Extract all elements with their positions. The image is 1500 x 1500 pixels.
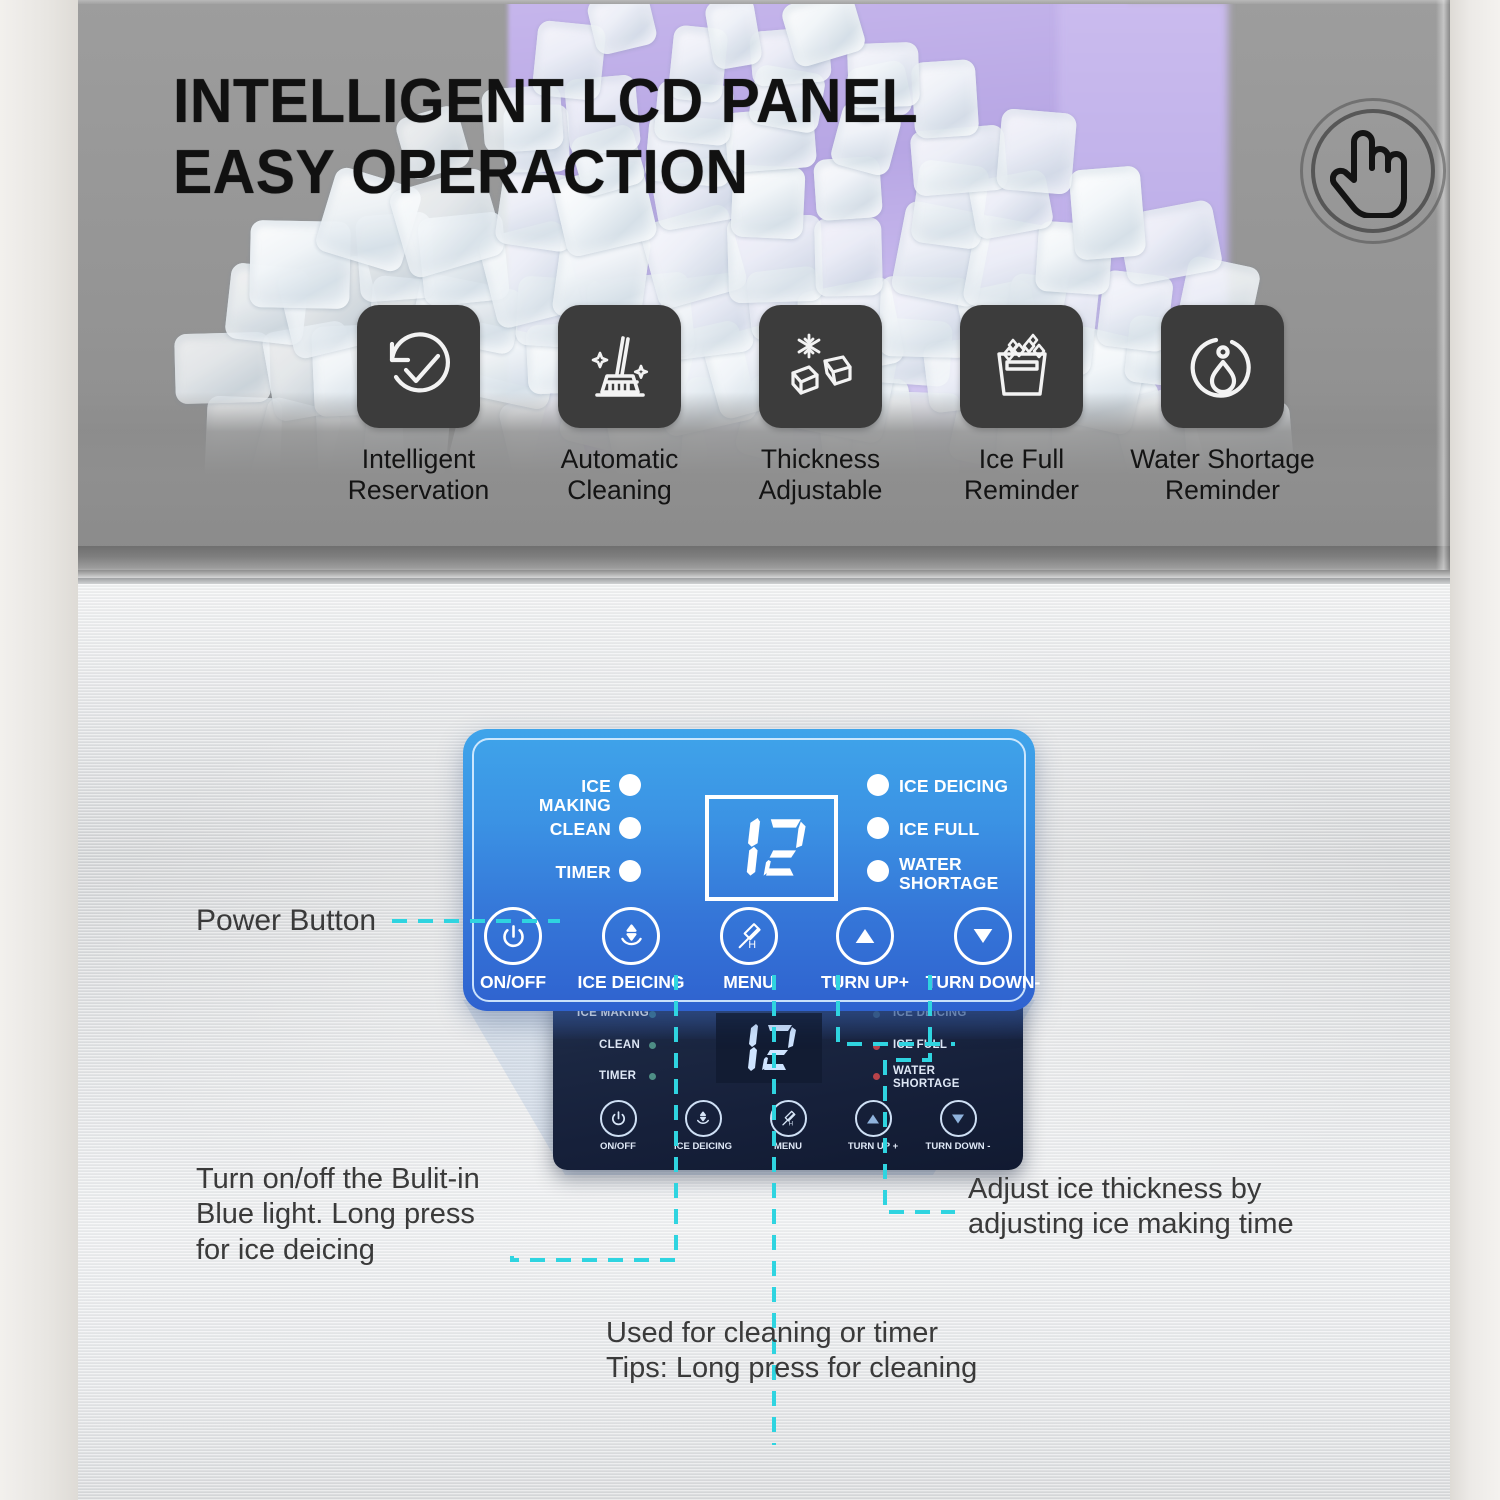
feature-label: Intelligent Reservation <box>348 444 489 506</box>
panel-button-row: ON/OFF ICE DEICING H <box>463 907 1035 993</box>
dark-button-label: ON/OFF <box>600 1141 636 1152</box>
dark-lamp-water-shortage <box>873 1073 880 1080</box>
feature-thickness-adjustable: Thickness Adjustable <box>720 305 921 506</box>
svg-text:H: H <box>748 939 756 951</box>
dark-button-menu[interactable]: H MENU <box>751 1100 825 1152</box>
feature-water-shortage-reminder: Water Shortage Reminder <box>1122 305 1323 506</box>
hand-glyph <box>1330 124 1418 218</box>
feature-label: Automatic Cleaning <box>561 444 679 506</box>
dark-lamp-ice-deicing <box>873 1011 880 1018</box>
ice-cube <box>704 0 763 71</box>
deicing-icon <box>685 1100 722 1137</box>
hero-top-bezel <box>78 0 1450 4</box>
lamp-water-shortage <box>867 860 889 882</box>
feature-ice-full-reminder: Ice Full Reminder <box>921 305 1122 506</box>
deicing-icon <box>602 907 660 965</box>
button-label: MENU <box>723 972 775 993</box>
power-icon <box>484 907 542 965</box>
button-menu[interactable]: H MENU <box>699 907 799 993</box>
lamp-label-ice-making: ICE MAKING <box>511 777 611 816</box>
button-ice-deicing[interactable]: ICE DEICING <box>579 907 683 993</box>
ice-cube <box>585 0 658 56</box>
button-turn-down[interactable]: TURN DOWN- <box>931 907 1035 993</box>
dark-lamp-timer <box>649 1073 656 1080</box>
snowflake-ice-cubes-icon <box>759 305 882 428</box>
lamp-ice-making <box>619 774 641 796</box>
ice-cube <box>911 59 980 139</box>
dark-lcd-digits <box>734 1022 804 1074</box>
dark-button-turn-down[interactable]: TURN DOWN - <box>921 1100 995 1152</box>
annotation-menu-cleaning: Used for cleaning or timer Tips: Long pr… <box>606 1316 977 1387</box>
water-drop-circle-icon <box>1161 305 1284 428</box>
lcd-display <box>705 795 838 901</box>
button-turn-up[interactable]: TURN UP+ <box>815 907 915 993</box>
arrow-down-icon <box>940 1100 977 1137</box>
button-label: ON/OFF <box>480 972 546 993</box>
lamp-ice-full <box>867 817 889 839</box>
dark-lcd-display <box>716 1013 822 1083</box>
hero-bottom-bezel <box>78 546 1450 572</box>
dark-lamp-label-timer: TIMER <box>599 1070 636 1083</box>
lcd-digit-glyphs <box>730 815 814 881</box>
dark-lamp-label-water-shortage: WATER SHORTAGE <box>893 1065 960 1091</box>
svg-text:H: H <box>788 1121 793 1128</box>
control-panel-diagram: ICE MAKING CLEAN TIMER ICE DEICING ICE F… <box>463 729 1035 1011</box>
touch-hand-icon <box>1300 98 1446 244</box>
page-title: INTELLIGENT LCD PANEL EASY OPERACTION <box>173 66 918 209</box>
reservation-clock-check-icon <box>357 305 480 428</box>
lamp-timer <box>619 860 641 882</box>
arrow-down-icon <box>954 907 1012 965</box>
dark-button-row: ON/OFF ICE DEICING H <box>553 1100 1023 1152</box>
hero-panel: INTELLIGENT LCD PANEL EASY OPERACTION <box>78 0 1450 572</box>
lamp-label-ice-full: ICE FULL <box>899 820 979 839</box>
lamp-label-clean: CLEAN <box>511 820 611 839</box>
dark-button-onoff[interactable]: ON/OFF <box>581 1100 655 1152</box>
annotation-ice-deicing: Turn on/off the Bulit-in Blue light. Lon… <box>196 1162 480 1268</box>
menu-brush-h-icon: H <box>720 907 778 965</box>
lcd-digits <box>709 799 834 897</box>
dark-button-ice-deicing[interactable]: ICE DEICING <box>666 1100 740 1152</box>
right-margin-strip <box>1450 0 1500 1500</box>
button-label: ICE DEICING <box>578 972 685 993</box>
lamp-label-water-shortage: WATER SHORTAGE <box>899 855 998 894</box>
feature-label: Ice Full Reminder <box>964 444 1079 506</box>
dark-lamp-ice-full <box>873 1043 880 1050</box>
ice-cube <box>1068 165 1146 260</box>
dark-button-label: TURN DOWN - <box>926 1141 991 1152</box>
feature-automatic-cleaning: Automatic Cleaning <box>519 305 720 506</box>
dark-lamp-ice-making <box>649 1011 656 1018</box>
left-margin-strip <box>0 0 78 1500</box>
dark-button-turn-up[interactable]: TURN UP + <box>836 1100 910 1152</box>
button-onoff[interactable]: ON/OFF <box>463 907 563 993</box>
lamp-label-timer: TIMER <box>511 863 611 882</box>
feature-intelligent-reservation: Intelligent Reservation <box>318 305 519 506</box>
dark-lamp-clean <box>649 1042 656 1049</box>
lamp-clean <box>619 817 641 839</box>
dark-button-label: MENU <box>774 1141 802 1152</box>
product-feature-image: INTELLIGENT LCD PANEL EASY OPERACTION <box>0 0 1500 1500</box>
feature-icon-row: Intelligent Reservation Automatic <box>318 305 1368 506</box>
menu-brush-h-icon: H <box>770 1100 807 1137</box>
feature-label: Water Shortage Reminder <box>1130 444 1315 506</box>
hero-right-edge <box>1436 0 1450 572</box>
lamp-label-ice-deicing: ICE DEICING <box>899 777 1008 796</box>
dark-lamp-label-clean: CLEAN <box>599 1039 640 1052</box>
button-label: TURN UP+ <box>821 972 909 993</box>
control-panel-photo[interactable]: ICE MAKING CLEAN TIMER ICE DEICING ICE F… <box>553 995 1023 1170</box>
lamp-ice-deicing <box>867 774 889 796</box>
broom-sparkle-icon <box>558 305 681 428</box>
annotation-power-button: Power Button <box>196 903 376 940</box>
ice-bucket-full-icon <box>960 305 1083 428</box>
button-label: TURN DOWN- <box>926 972 1041 993</box>
arrow-up-icon <box>836 907 894 965</box>
dark-lamp-label-ice-full: ICE FULL <box>893 1039 947 1052</box>
annotation-ice-thickness: Adjust ice thickness by adjusting ice ma… <box>968 1172 1294 1243</box>
dark-button-label: ICE DEICING <box>674 1141 732 1152</box>
power-icon <box>600 1100 637 1137</box>
dark-button-label: TURN UP + <box>848 1141 898 1152</box>
feature-label: Thickness Adjustable <box>759 444 883 506</box>
ice-cube <box>814 217 883 297</box>
arrow-up-icon <box>855 1100 892 1137</box>
ice-cube <box>996 108 1077 195</box>
